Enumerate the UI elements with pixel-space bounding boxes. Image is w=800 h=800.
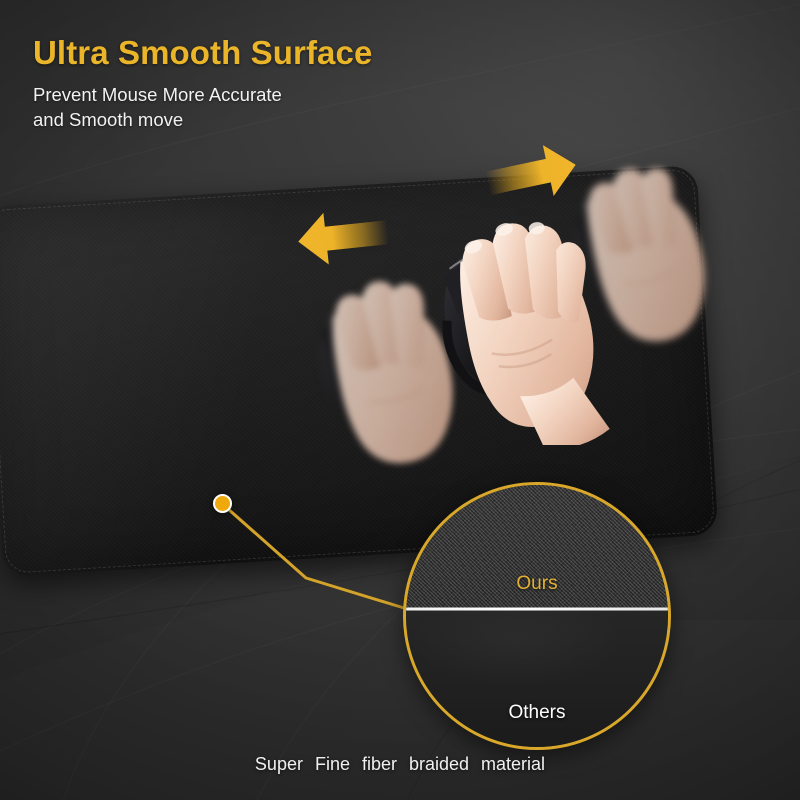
label-ours: Ours (406, 573, 668, 595)
magnifier-circle: Ours Others (403, 482, 671, 750)
page-subtitle: Prevent Mouse More Accurate and Smooth m… (33, 82, 282, 132)
label-others: Others (406, 702, 668, 724)
callout-dot (213, 494, 232, 513)
product-marketing-image: Ultra Smooth Surface Prevent Mouse More … (0, 0, 800, 800)
comparison-divider (406, 608, 668, 611)
material-caption: Super Fine fiber braided material (0, 754, 800, 775)
hand-with-mouse-center (420, 205, 650, 450)
fabric-others-texture (406, 609, 668, 747)
page-title: Ultra Smooth Surface (33, 34, 372, 72)
